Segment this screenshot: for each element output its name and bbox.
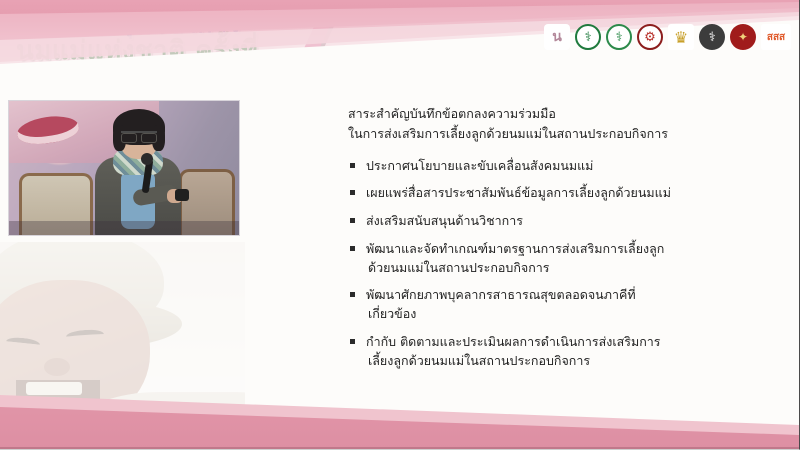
royal-emblem-logo-icon: ⚙ <box>637 24 663 50</box>
garuda-emblem-logo-icon: ✦ <box>730 24 756 50</box>
speaker-presentation-photo <box>8 100 240 236</box>
microphone-head <box>141 153 153 165</box>
content-bullet-list: ประกาศนโยบายและขับเคลื่อนสังคมนมแม่ เผยแ… <box>348 157 768 371</box>
bullet-text-line-2: ด้วยนมแม่ในสถานประกอบกิจการ <box>366 259 768 278</box>
content-intro-line-2: ในการส่งเสริมการเลี้ยงลูกด้วยนมแม่ในสถาน… <box>348 124 768 144</box>
list-item: ประกาศนโยบายและขับเคลื่อนสังคมนมแม่ <box>348 157 768 176</box>
slide-content: สาระสำคัญบันทึกข้อตกลงความร่วมมือ ในการส… <box>348 104 768 379</box>
stage-floor <box>9 221 239 235</box>
bullet-text-line-1: พัฒนาและจัดทำเกณฑ์มาตรฐานการส่งเสริมการเ… <box>366 241 664 256</box>
bullet-text-line-1: เผยแพร่สื่อสารประชาสัมพันธ์ข้อมูลการเลี้… <box>366 185 671 200</box>
breastfeeding-foundation-logo-icon: น <box>544 24 570 50</box>
speaker-glasses <box>121 131 157 139</box>
bullet-text-line-2: เกี่ยวข้อง <box>366 305 768 324</box>
sponsor-logo-row: น ⚕ ⚕ ⚙ ♛ ⚕ ✦ สสส <box>544 24 791 50</box>
health-department-logo-icon: ⚕ <box>606 24 632 50</box>
ministry-public-health-logo-icon: ⚕ <box>575 24 601 50</box>
list-item: กำกับ ติดตามและประเมินผลการดำเนินการส่งเ… <box>348 333 768 371</box>
bullet-text-line-1: ประกาศนโยบายและขับเคลื่อนสังคมนมแม่ <box>366 158 593 173</box>
bullet-text-line-1: พัฒนาศักยภาพบุคลากรสาธารณสุขตลอดจนภาคีที… <box>366 287 636 302</box>
list-item: พัฒนาศักยภาพบุคลากรสาธารณสุขตลอดจนภาคีที… <box>348 286 768 324</box>
list-item: เผยแพร่สื่อสารประชาสัมพันธ์ข้อมูลการเลี้… <box>348 184 768 203</box>
bottom-sweep-edge <box>0 447 800 449</box>
bullet-text-line-1: กำกับ ติดตามและประเมินผลการดำเนินการส่งเ… <box>366 334 661 349</box>
content-intro: สาระสำคัญบันทึกข้อตกลงความร่วมมือ ในการส… <box>348 104 768 145</box>
presentation-clicker <box>175 189 189 201</box>
royal-crest-logo-icon: ♛ <box>668 24 694 50</box>
presentation-slide: 7 การประชุมวิชาการ นมแม่แห่งชาติ ครั้งที… <box>0 0 800 450</box>
thaihealth-sss-logo-icon: สสส <box>761 24 791 50</box>
list-item: ส่งเสริมสนับสนุนด้านวิชาการ <box>348 212 768 231</box>
unicef-dark-logo-icon: ⚕ <box>699 24 725 50</box>
bullet-text-line-1: ส่งเสริมสนับสนุนด้านวิชาการ <box>366 213 523 228</box>
bullet-text-line-2: เลี้ยงลูกด้วยนมแม่ในสถานประกอบกิจการ <box>366 352 768 371</box>
list-item: พัฒนาและจัดทำเกณฑ์มาตรฐานการส่งเสริมการเ… <box>348 240 768 278</box>
content-intro-line-1: สาระสำคัญบันทึกข้อตกลงความร่วมมือ <box>348 104 768 124</box>
